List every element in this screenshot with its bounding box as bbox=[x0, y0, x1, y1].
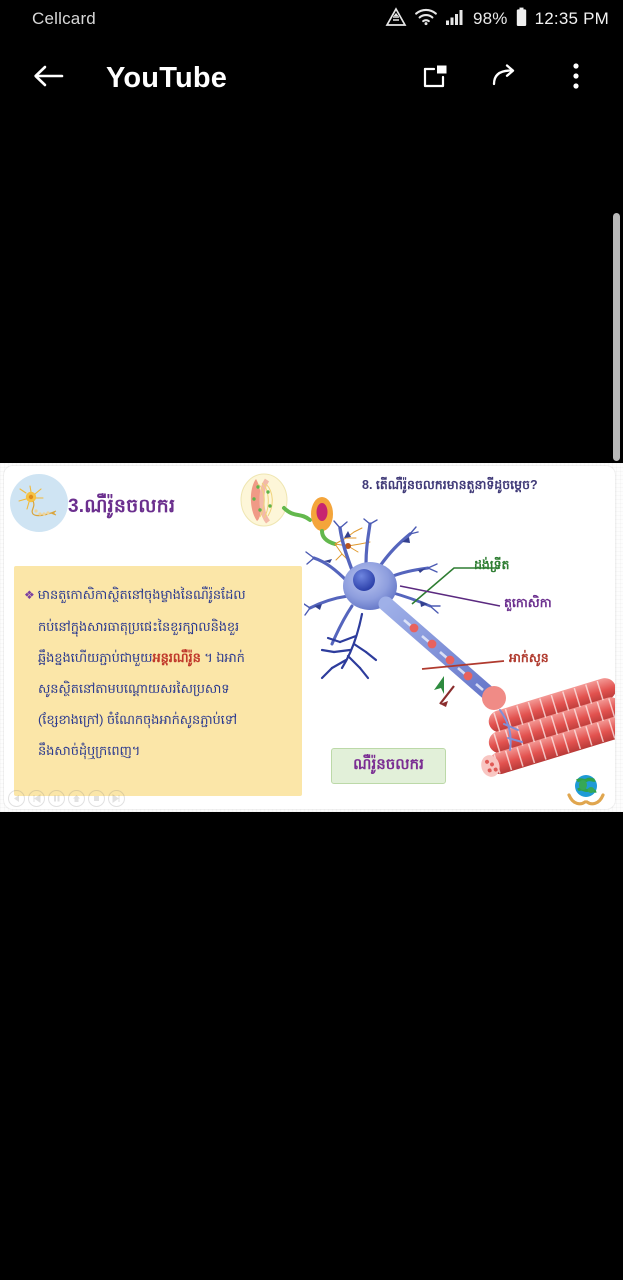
neuron-diagram: ដង់ទ្រីត តួកោសិកា អាក់សូន ណឺរ៉ូនចលករ bbox=[304, 466, 615, 809]
picture-in-picture-button[interactable] bbox=[415, 57, 457, 99]
stop-icon[interactable] bbox=[88, 790, 105, 807]
app-bar: YouTube bbox=[0, 38, 623, 118]
cellular-signal-icon bbox=[445, 8, 465, 31]
battery-icon bbox=[516, 7, 527, 32]
slide-text: កប់នៅក្នុងសារធាតុប្រផេះនៃខួរក្បាលនិងខួរ bbox=[38, 619, 239, 634]
slide-text: សូនស្ថិតនៅតាមបណ្ដោយសរសៃប្រសាទ bbox=[38, 681, 229, 696]
status-icons: 98% 12:35 PM bbox=[385, 7, 609, 32]
slide-text-line: កប់នៅក្នុងសារធាតុប្រផេះនៃខួរក្បាលនិងខួរ bbox=[24, 611, 291, 642]
slide-text: នឹងសាច់ដុំឬក្រពេញ។ bbox=[38, 743, 140, 758]
slide-text-line: ឆ្អឹងខ្នងហើយភ្ជាប់ជាមួយអន្តរណឺរ៉ូន ។ ឯអា… bbox=[24, 642, 291, 673]
neuron-circle-icon bbox=[10, 474, 68, 532]
back-button[interactable] bbox=[26, 56, 70, 100]
wifi-icon bbox=[415, 8, 437, 31]
app-bar-actions bbox=[415, 57, 603, 99]
slide-text-line: ❖មានតួកោសិកាស្ថិតនៅចុងម្ខាងនៃណឺរ៉ូនដែល bbox=[24, 579, 291, 611]
slide-text: មានតួកោសិកាស្ថិតនៅចុងម្ខាងនៃណឺរ៉ូនដែល bbox=[38, 587, 246, 602]
rewind-icon[interactable] bbox=[8, 790, 25, 807]
battery-percent-label: 98% bbox=[473, 9, 508, 29]
page-title: YouTube bbox=[106, 62, 227, 95]
slide-text-line: នឹងសាច់ដុំឬក្រពេញ។ bbox=[24, 735, 291, 766]
slide-title: 3.ណឺរ៉ូនចលករ bbox=[68, 494, 175, 522]
label-axon: អាក់សូន bbox=[509, 651, 549, 669]
carrier-label: Cellcard bbox=[32, 9, 96, 29]
slide-text-line: សូនស្ថិតនៅតាមបណ្ដោយសរសៃប្រសាទ bbox=[24, 673, 291, 704]
bullet-icon: ❖ bbox=[24, 588, 35, 602]
data-saver-icon bbox=[385, 7, 407, 32]
share-icon bbox=[492, 63, 520, 94]
slide-background: 3.ណឺរ៉ូនចលករ 8. តើណឺរ៉ូនចលករមានតួនាទីដូច… bbox=[0, 463, 623, 812]
next-icon[interactable] bbox=[108, 790, 125, 807]
video-player-surface[interactable]: 3.ណឺរ៉ូនចលករ 8. តើណឺរ៉ូនចលករមានតួនាទីដូច… bbox=[0, 463, 623, 812]
term-box-label: ណឺរ៉ូនចលករ bbox=[353, 755, 424, 777]
label-soma: តួកោសិកា bbox=[504, 596, 552, 614]
pause-icon[interactable] bbox=[48, 790, 65, 807]
slide-text: ឆ្អឹងខ្នងហើយភ្ជាប់ជាមួយ bbox=[38, 650, 152, 665]
term-box: ណឺរ៉ូនចលករ bbox=[331, 748, 446, 784]
overflow-menu-button[interactable] bbox=[555, 57, 597, 99]
home-icon[interactable] bbox=[68, 790, 85, 807]
slide-canvas: 3.ណឺរ៉ូនចលករ 8. តើណឺរ៉ូនចលករមានតួនាទីដូច… bbox=[4, 466, 615, 809]
slide-text-line: (ខ្សែខាងក្រៅ) ចំណែកចុងអាក់សូនភ្ជាប់ទៅ bbox=[24, 704, 291, 735]
back-arrow-icon bbox=[32, 63, 64, 94]
globe-in-hands-logo bbox=[565, 771, 607, 807]
status-bar: Cellcard bbox=[0, 0, 623, 38]
slide-text-tail: ។ ឯអាក់ bbox=[201, 650, 245, 665]
slide-text-highlight: អន្តរណឺរ៉ូន bbox=[152, 650, 200, 665]
overflow-menu-icon bbox=[572, 62, 580, 95]
prev-icon[interactable] bbox=[28, 790, 45, 807]
label-dendrite: ដង់ទ្រីត bbox=[474, 558, 509, 576]
share-button[interactable] bbox=[485, 57, 527, 99]
picture-in-picture-icon bbox=[423, 63, 449, 94]
slide-text: (ខ្សែខាងក្រៅ) ចំណែកចុងអាក់សូនភ្ជាប់ទៅ bbox=[38, 712, 237, 727]
clock-label: 12:35 PM bbox=[535, 9, 609, 29]
phone-screen: Cellcard bbox=[0, 0, 623, 1280]
slide-player-controls[interactable] bbox=[8, 790, 125, 807]
page-scrollbar[interactable] bbox=[613, 213, 620, 461]
slide-text-panel: ❖មានតួកោសិកាស្ថិតនៅចុងម្ខាងនៃណឺរ៉ូនដែល ក… bbox=[14, 566, 302, 796]
